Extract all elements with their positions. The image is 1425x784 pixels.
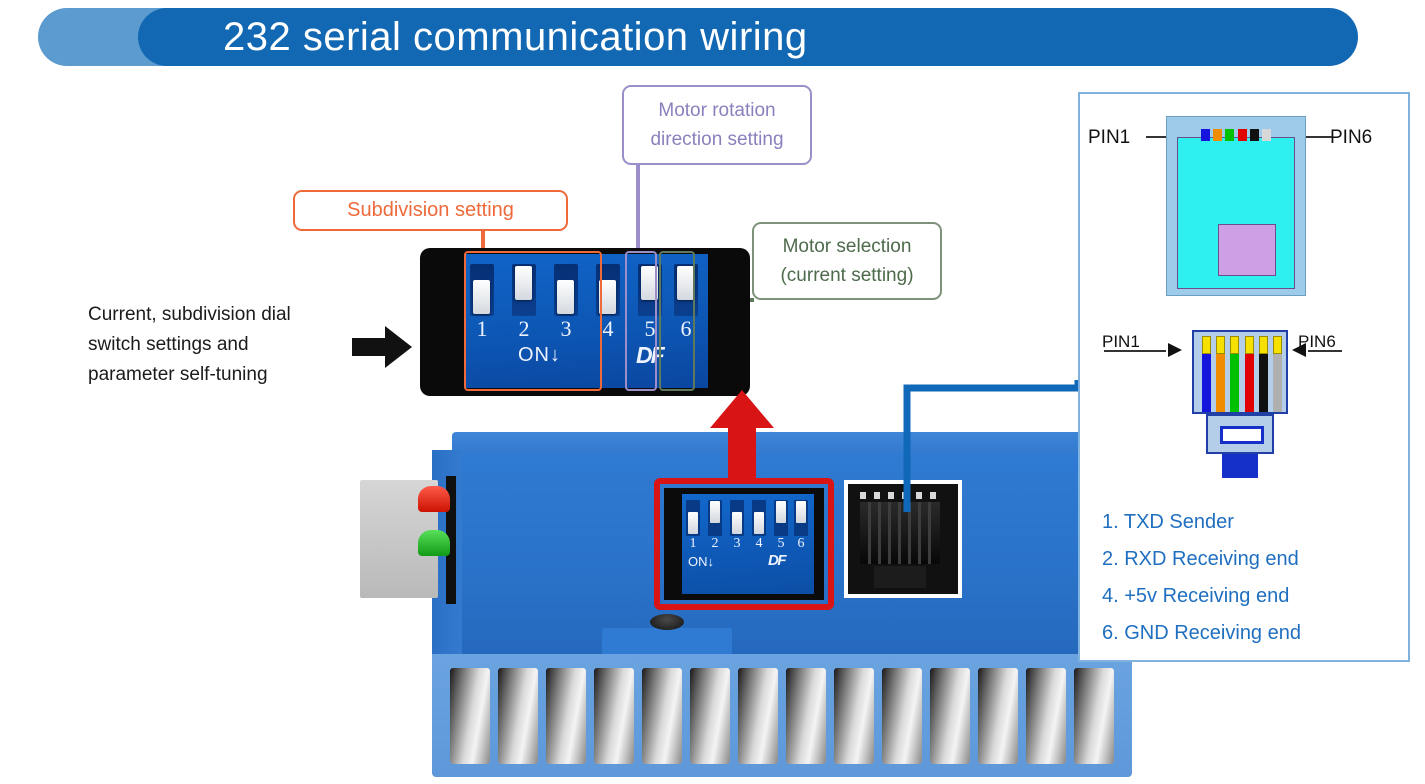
callout-subdivision-setting: Subdivision setting (293, 190, 568, 231)
callout-motor-rotation-direction: Motor rotation direction setting (622, 85, 812, 165)
plug-pin6-arrow-icon (1292, 343, 1306, 357)
highlight-subdivision-range (464, 251, 602, 391)
jack-diagram-pin-2 (1213, 129, 1222, 141)
heatsink-fin (498, 668, 538, 764)
pinout-item: 6. GND Receiving end (1102, 615, 1402, 652)
plug-contact-5 (1259, 336, 1268, 354)
pinout-item: 1. TXD Sender (1102, 504, 1402, 541)
rj-jack-pin (860, 492, 866, 499)
callout-rotation-line-1: Motor rotation (650, 96, 783, 125)
rj12-plug-neck (1206, 414, 1274, 454)
plug-contact-1 (1202, 336, 1211, 354)
jack-connector-leader-line (900, 380, 1090, 525)
red-led-icon (418, 486, 450, 512)
module-heatsink (432, 654, 1132, 777)
dip-switch-highlight-box (654, 478, 834, 610)
module-screw-icon (650, 614, 684, 630)
connector-pinout-panel: PIN1 PIN6 PIN1 PIN6 1. TXD Sender 2. RXD… (1078, 92, 1410, 662)
rj12-jack-notch (874, 566, 926, 588)
plug-pin1-arrow-icon (1168, 343, 1182, 357)
callout-rotation-line-2: direction setting (650, 125, 783, 154)
left-description-line-2: switch settings and (88, 330, 358, 360)
rj12-plug-head (1192, 330, 1288, 414)
heatsink-fin (930, 668, 970, 764)
callout-motorsel-line-1: Motor selection (780, 232, 913, 261)
jack-diagram-pin-1 (1201, 129, 1210, 141)
rj12-plug-diagram (1192, 330, 1288, 478)
heatsink-fin (450, 668, 490, 764)
plug-wire-3 (1230, 354, 1239, 412)
rj12-jack-diagram (1166, 116, 1306, 296)
rj-jack-pin (888, 492, 894, 499)
rj12-jack-diagram-pad (1218, 224, 1276, 276)
jack-diagram-pin-6 (1262, 129, 1271, 141)
heatsink-fins (450, 668, 1114, 764)
jack-diagram-pin-5 (1250, 129, 1259, 141)
left-description-line-1: Current, subdivision dial (88, 300, 358, 330)
highlight-rotation-switch (625, 251, 657, 391)
rj12-plug-contacts (1202, 336, 1282, 354)
heatsink-fin (978, 668, 1018, 764)
heatsink-fin (594, 668, 634, 764)
rj12-plug-cable (1222, 454, 1258, 478)
jack-pin6-label: PIN6 (1330, 127, 1372, 149)
rj12-jack-diagram-body (1177, 137, 1295, 289)
callout-motor-selection: Motor selection (current setting) (752, 222, 942, 300)
heatsink-fin (1026, 668, 1066, 764)
plug-pin1-leader (1104, 350, 1166, 352)
pinout-item: 4. +5v Receiving end (1102, 578, 1402, 615)
heatsink-fin (738, 668, 778, 764)
plug-wire-4 (1245, 354, 1254, 412)
plug-wire-5 (1259, 354, 1268, 412)
callout-subdivision-label: Subdivision setting (347, 199, 514, 222)
heatsink-fin (642, 668, 682, 764)
heatsink-fin (690, 668, 730, 764)
red-up-arrow-icon (710, 390, 774, 482)
left-description-line-3: parameter self-tuning (88, 360, 358, 390)
rj-jack-pin (874, 492, 880, 499)
plug-wire-6 (1273, 354, 1282, 412)
highlight-motor-selection-switch (659, 251, 695, 391)
plug-wire-2 (1216, 354, 1225, 412)
page-title: 232 serial communication wiring (223, 15, 808, 60)
plug-contact-2 (1216, 336, 1225, 354)
plug-wire-1 (1202, 354, 1211, 412)
rj12-jack-diagram-pins (1201, 129, 1271, 141)
heatsink-fin (882, 668, 922, 764)
left-description: Current, subdivision dial switch setting… (88, 300, 358, 390)
callout-motorsel-line-2: (current setting) (780, 261, 913, 290)
plug-contact-6 (1273, 336, 1282, 354)
jack-diagram-pin-3 (1225, 129, 1234, 141)
rj12-plug-wires (1202, 354, 1282, 412)
jack-diagram-pin-4 (1238, 129, 1247, 141)
title-bar: 232 serial communication wiring (38, 8, 1358, 66)
plug-pin6-leader (1308, 350, 1342, 352)
rj-jack-contact-fin (888, 502, 891, 564)
heatsink-fin (1074, 668, 1114, 764)
green-led-icon (418, 530, 450, 556)
plug-contact-4 (1245, 336, 1254, 354)
rj12-plug-window (1220, 426, 1264, 444)
heatsink-fin (786, 668, 826, 764)
pinout-item: 2. RXD Receiving end (1102, 541, 1402, 578)
heatsink-fin (834, 668, 874, 764)
black-arrow-icon (352, 326, 412, 368)
jack-pin1-label: PIN1 (1088, 127, 1130, 149)
rj-jack-contact-fin (868, 502, 871, 564)
rj-jack-contact-fin (878, 502, 881, 564)
plug-contact-3 (1230, 336, 1239, 354)
heatsink-fin (546, 668, 586, 764)
plug-pin1-label: PIN1 (1102, 332, 1140, 352)
pinout-list: 1. TXD Sender 2. RXD Receiving end 4. +5… (1102, 504, 1402, 652)
